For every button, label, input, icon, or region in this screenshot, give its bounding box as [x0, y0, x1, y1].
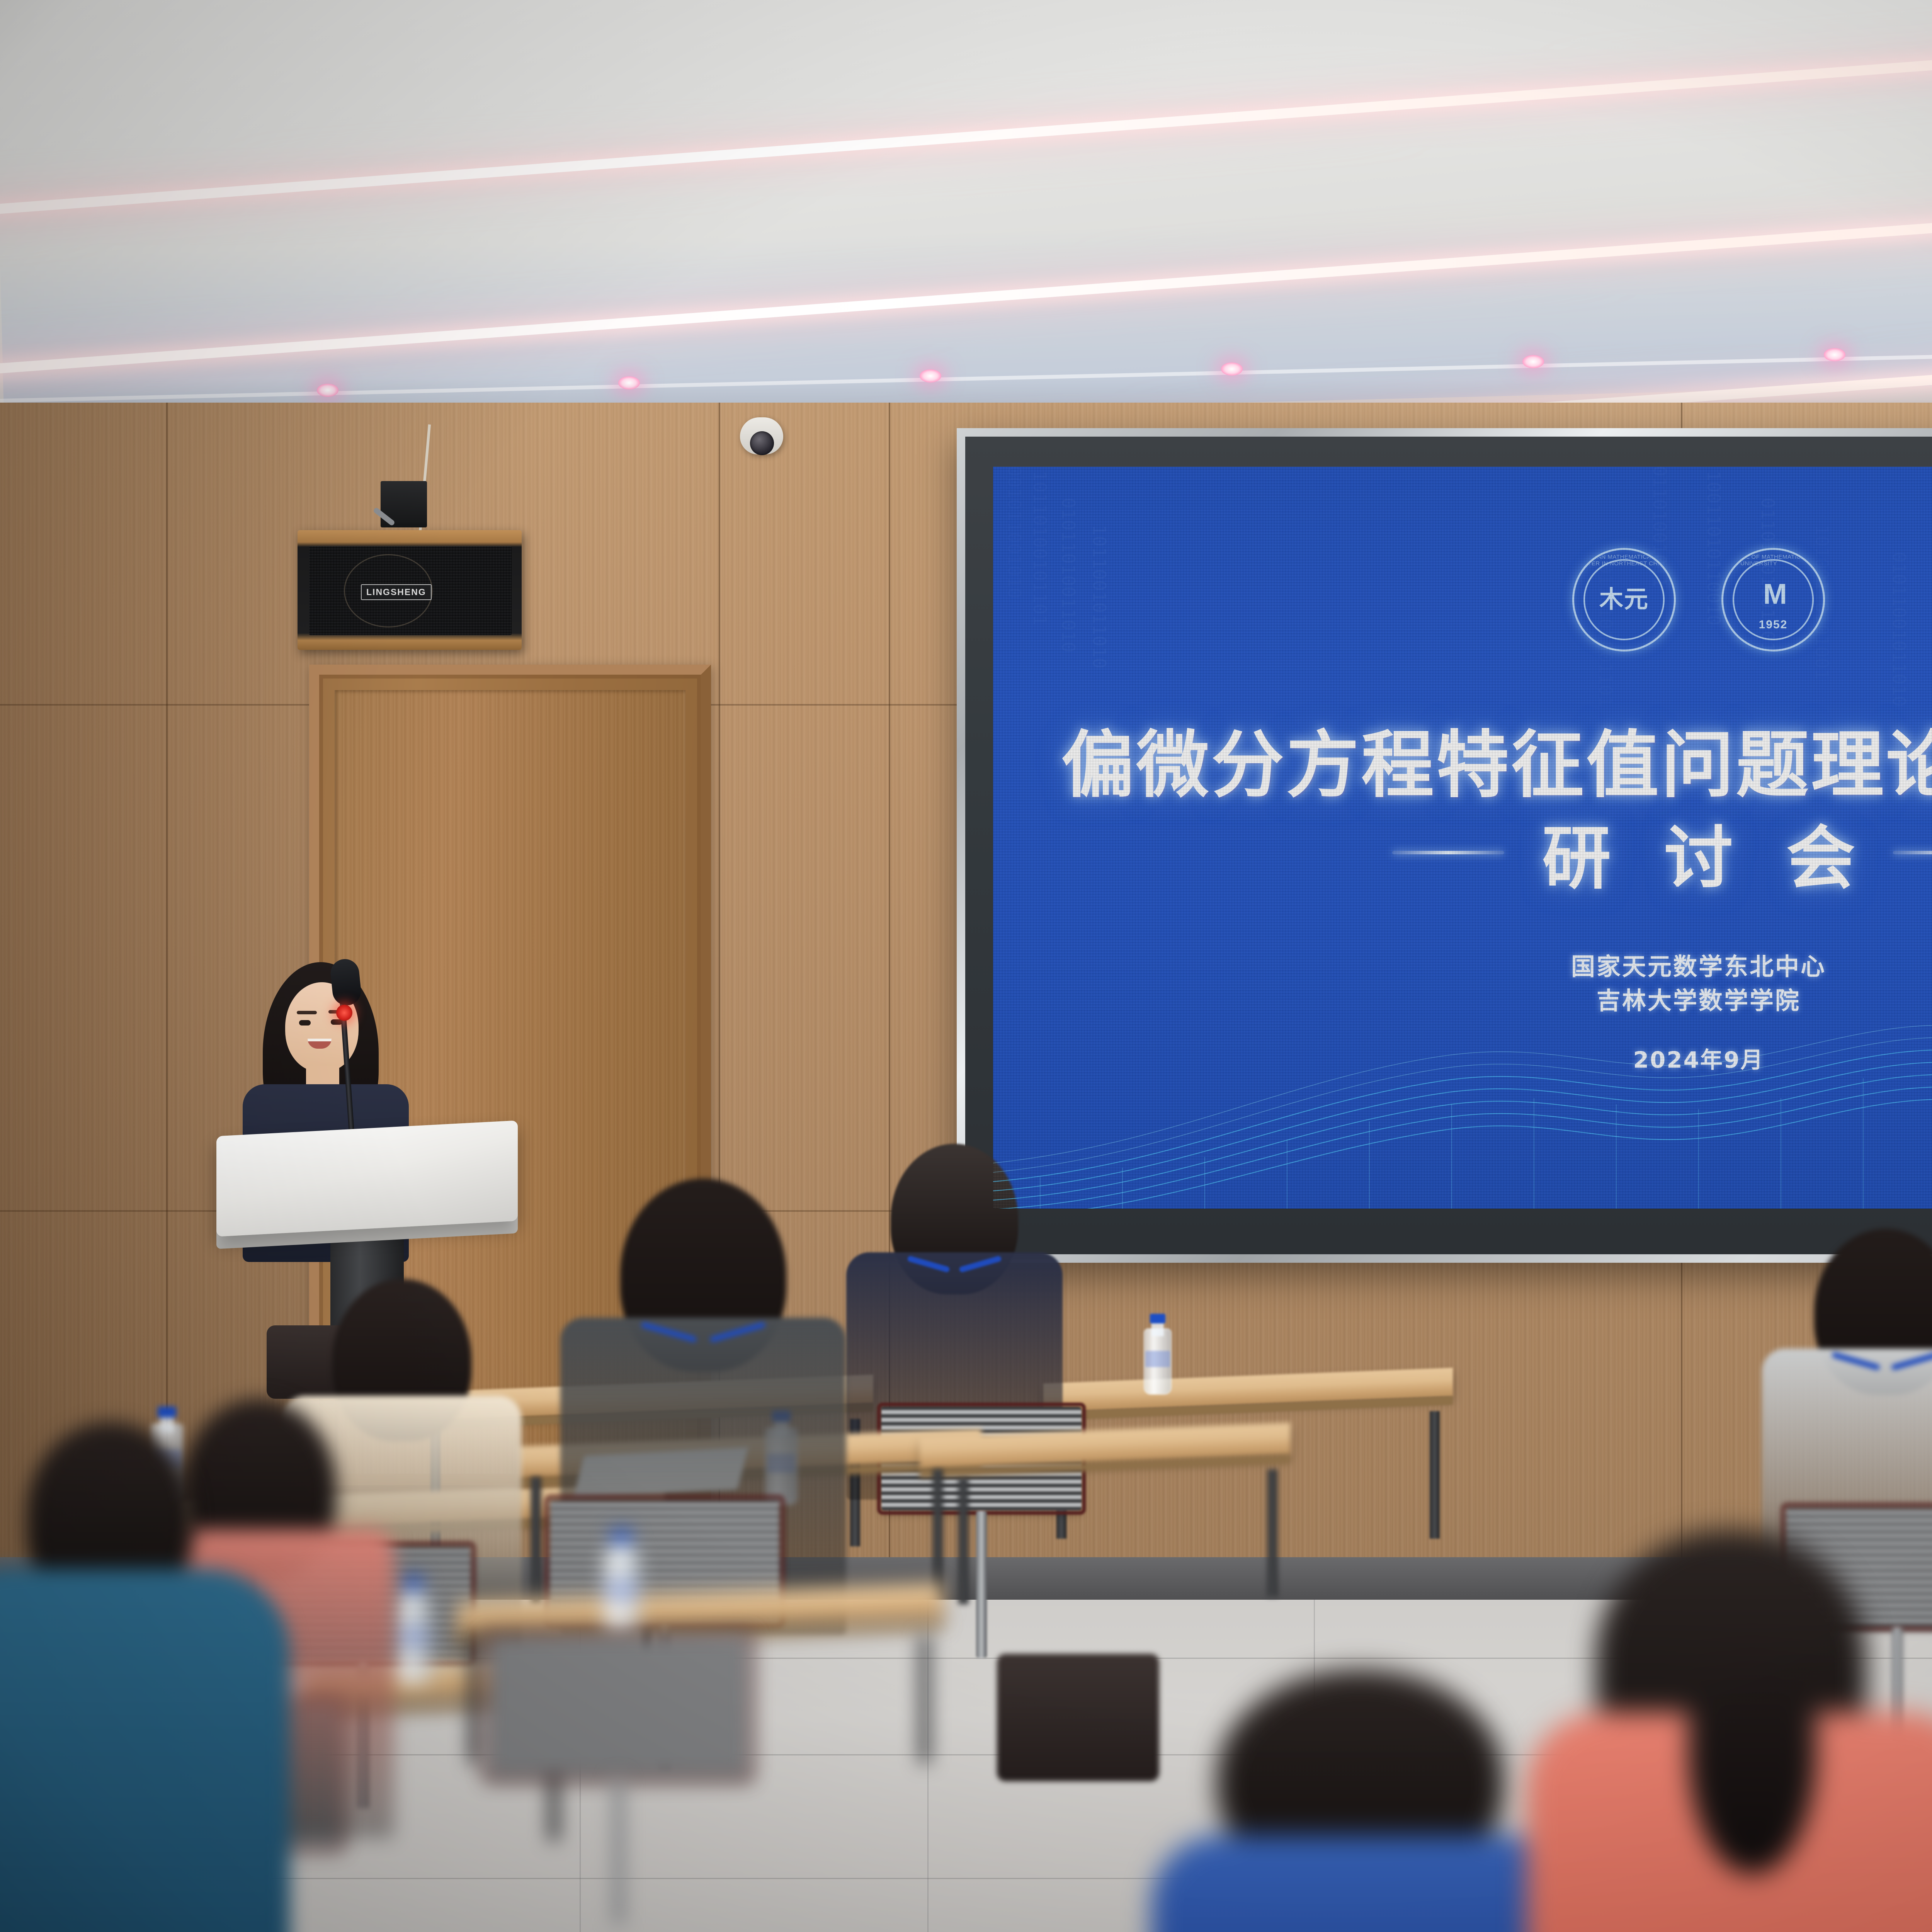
- emblem-year: 1952: [1759, 619, 1788, 631]
- desk-leg: [933, 1469, 943, 1597]
- desk-leg: [469, 1636, 479, 1764]
- foreground-attendee-left-teal: [0, 1422, 301, 1932]
- downlight: [1824, 348, 1845, 361]
- microphone-status-led: [336, 1005, 352, 1021]
- camera-lens-icon: [750, 431, 774, 455]
- emblem-ring-text: SCHOOL OF MATHEMATICS · JILIN UNIVERSITY: [1724, 551, 1822, 649]
- water-bottle: [603, 1530, 640, 1638]
- led-display-bezel: 0100101100101010110100101101010110100110…: [965, 437, 1932, 1254]
- organizer-line-2: 吉林大学数学学院: [993, 984, 1932, 1018]
- chair-stem: [613, 1777, 624, 1924]
- desk-leg: [1430, 1411, 1440, 1539]
- speaker-brand-label: LINGSHENG: [361, 584, 432, 600]
- logo-row: TIANYUAN MATHEMATICAL CENTER IN NORTHEAS…: [993, 548, 1932, 651]
- ceiling: [0, 0, 1932, 417]
- slide-date: 2024年9月: [993, 1042, 1932, 1074]
- led-display-frame: 0100101100101010110100101101010110100110…: [957, 428, 1932, 1263]
- subtitle-rule-left: [1392, 851, 1504, 854]
- chair-frame: [483, 1631, 753, 1781]
- podium-desk: [216, 1121, 518, 1237]
- bottle-cap: [402, 1577, 423, 1589]
- emblem-mountain-glyph: M: [1763, 577, 1783, 610]
- jilin-university-school-of-mathematics-emblem: SCHOOL OF MATHEMATICS · JILIN UNIVERSITY…: [1721, 548, 1825, 651]
- bottle-label: [1145, 1351, 1170, 1367]
- bottle-label: [396, 1626, 429, 1648]
- desk-leg: [531, 1477, 541, 1604]
- desk-leg: [958, 1477, 968, 1604]
- downlight: [1221, 362, 1243, 376]
- wall-speaker: LINGSHENG: [298, 530, 522, 650]
- foreground-attendee-blue: [1151, 1669, 1584, 1932]
- bottle-label: [605, 1580, 638, 1601]
- water-bottle: [1144, 1314, 1172, 1395]
- chair-stem: [976, 1511, 987, 1658]
- presentation-slide[interactable]: 0100101100101010110100101101010110100110…: [993, 467, 1932, 1209]
- slide-subtitle-row: 研 讨 会: [993, 803, 1932, 902]
- water-bottle: [394, 1577, 431, 1684]
- organizer-line-1: 国家天元数学东北中心: [993, 950, 1932, 984]
- slide-organizers: 国家天元数学东北中心 吉林大学数学学院 2024年9月: [993, 950, 1932, 1074]
- slide-subtitle: 研 讨 会: [1527, 803, 1870, 902]
- emblem-ring-text: TIANYUAN MATHEMATICAL CENTER IN NORTHEAS…: [1575, 551, 1673, 649]
- dome-camera-icon: [740, 417, 783, 454]
- bottle-cap: [611, 1530, 632, 1543]
- bottle-cap: [1150, 1314, 1165, 1323]
- subtitle-rule-right: [1893, 851, 1932, 854]
- slide-title: 偏微分方程特征值问题理论与计算专题: [993, 706, 1932, 811]
- foreground-attendee-coral: [1526, 1530, 1932, 1932]
- ceiling-light-strip-1: [0, 24, 1932, 218]
- desk-leg: [1267, 1469, 1277, 1597]
- backpack: [997, 1654, 1159, 1781]
- emblem-glyph: 木元: [1599, 588, 1649, 612]
- emblem-core: 1952: [1742, 568, 1804, 631]
- lecture-hall-photo: LINGSHENG 010010110010101011010010110101…: [0, 0, 1932, 1932]
- desk-leg: [920, 1636, 930, 1764]
- emblem-core: 木元: [1593, 568, 1655, 631]
- tianyuan-mathematical-center-emblem: TIANYUAN MATHEMATICAL CENTER IN NORTHEAS…: [1572, 548, 1676, 651]
